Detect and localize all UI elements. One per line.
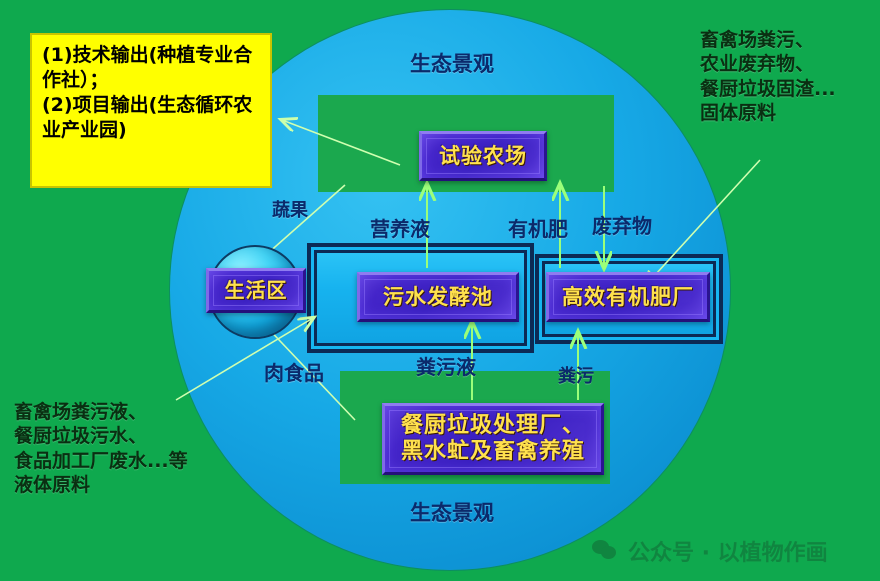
watermark: 公众号 · 以植物作画 [592, 535, 828, 567]
flow-label-nutrient-solution: 营养液 [370, 213, 430, 242]
flow-label-vegetables-fruits: 蔬果 [272, 196, 308, 222]
node-wastewater-fermentation-pool-label: 污水发酵池 [383, 285, 493, 310]
node-organic-fertilizer-plant[interactable]: 高效有机肥厂 [546, 272, 710, 322]
node-experimental-farm-label: 试验农场 [439, 144, 527, 169]
node-organic-fertilizer-plant-label: 高效有机肥厂 [562, 285, 694, 310]
diagram-canvas: 生活区 试验农场 污水发酵池 高效有机肥厂 餐厨垃圾处理厂、 黑水虻及畜禽养殖 … [0, 0, 880, 581]
note-solid-raw-materials: 畜禽场粪污、 农业废弃物、 餐厨垃圾固渣... 固体原料 [700, 28, 880, 125]
eco-landscape-title-bottom: 生态景观 [410, 497, 494, 527]
flow-label-meat-food: 肉食品 [264, 357, 324, 386]
node-wastewater-fermentation-pool[interactable]: 污水发酵池 [357, 272, 519, 322]
node-kitchen-waste-plant[interactable]: 餐厨垃圾处理厂、 黑水虻及畜禽养殖 [382, 403, 604, 475]
node-experimental-farm[interactable]: 试验农场 [419, 131, 547, 181]
node-kitchen-waste-plant-label: 餐厨垃圾处理厂、 黑水虻及畜禽养殖 [401, 413, 585, 465]
node-living-area-label: 生活区 [225, 279, 288, 303]
flow-label-waste: 废弃物 [592, 210, 652, 239]
wechat-icon [592, 540, 618, 562]
eco-landscape-title-top: 生态景观 [410, 48, 494, 78]
flow-label-organic-fertilizer: 有机肥 [508, 213, 568, 242]
flow-label-manure: 粪污 [558, 362, 594, 388]
watermark-text: 公众号 · 以植物作画 [628, 535, 828, 567]
output-callout-box: (1)技术输出(种植专业合作社）； (2)项目输出(生态循环农业产业园) [30, 33, 272, 188]
node-living-area[interactable]: 生活区 [206, 268, 306, 313]
flow-label-manure-slurry: 粪污液 [416, 351, 476, 380]
note-liquid-raw-materials: 畜禽场粪污液、 餐厨垃圾污水、 食品加工厂废水...等 液体原料 [14, 400, 214, 497]
